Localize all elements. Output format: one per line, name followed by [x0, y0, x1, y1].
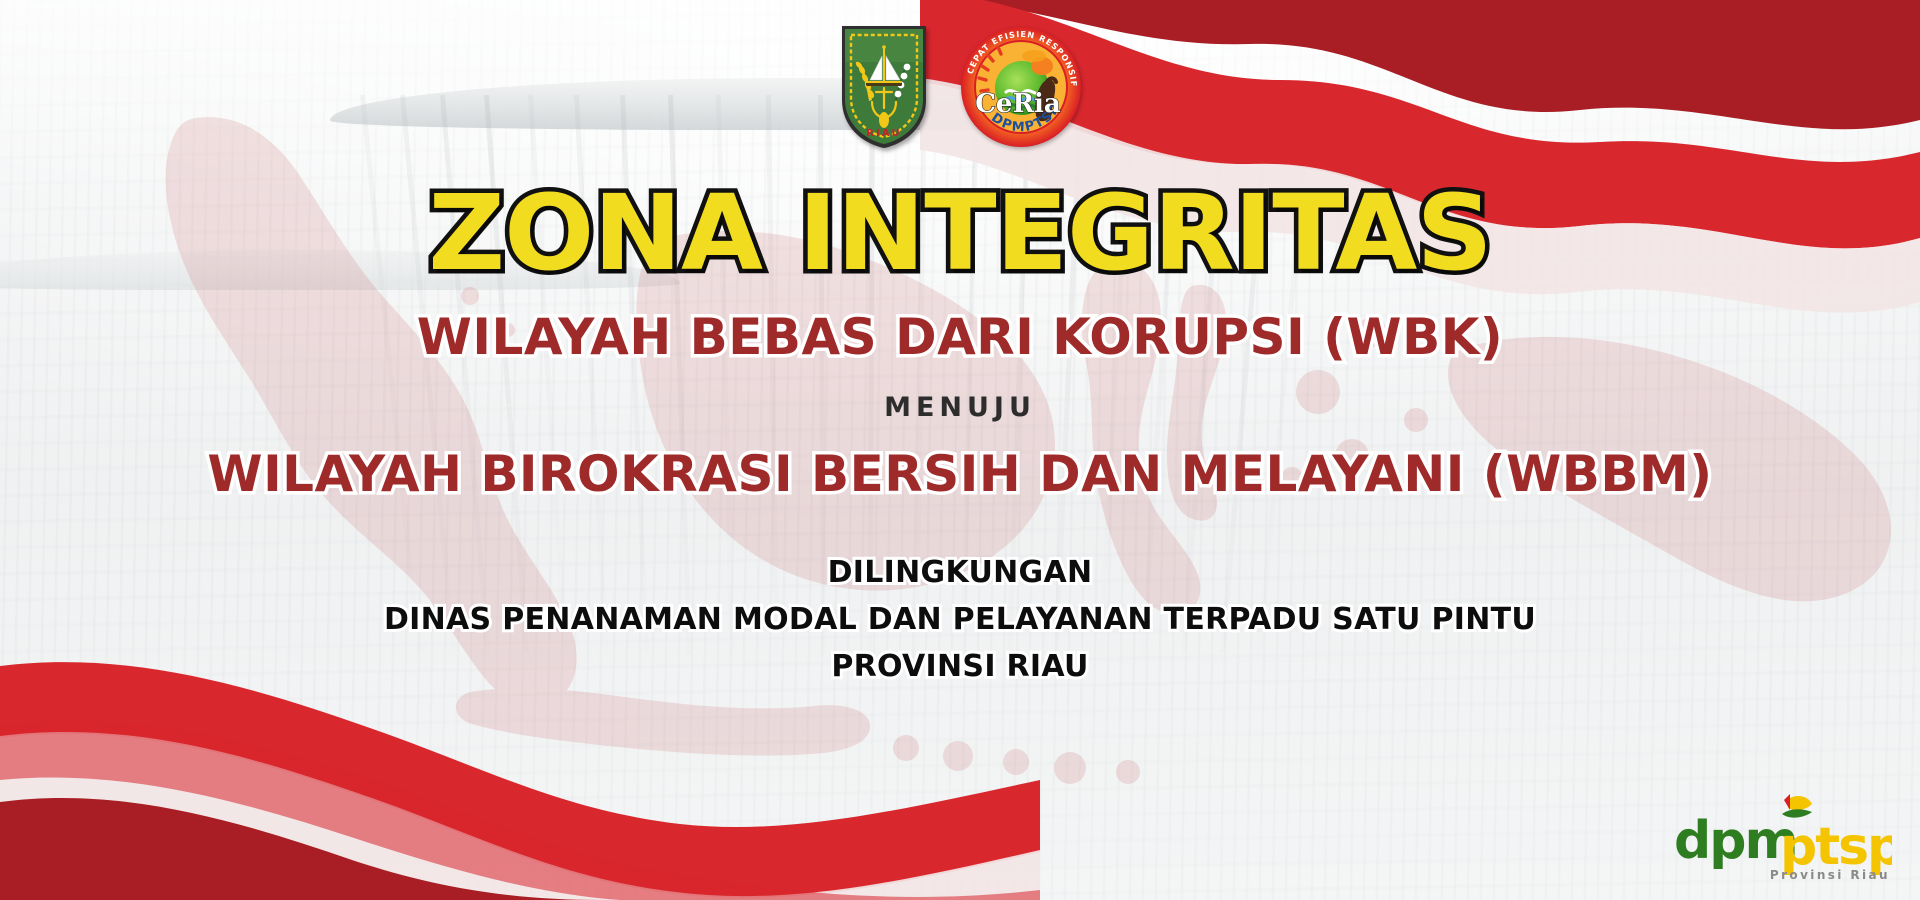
logo-row: RIAU	[0, 22, 1920, 152]
riau-crest-icon: RIAU	[838, 22, 930, 152]
dpmptsp-wordmark-logo: dpm ptsp Provinsi Riau	[1662, 784, 1892, 884]
page-title: ZONA INTEGRITAS	[0, 180, 1920, 286]
svg-text:RIAU: RIAU	[866, 128, 902, 139]
zona-integritas-banner: RIAU	[0, 0, 1920, 900]
menuju-label: MENUJU	[0, 392, 1920, 423]
dpm-text: dpm	[1674, 811, 1797, 871]
wbk-subtitle: WILAYAH BEBAS DARI KORUPSI (WBK)	[0, 308, 1920, 366]
scope-line-1: DILINGKUNGAN	[0, 555, 1920, 590]
banner-text-content: ZONA INTEGRITAS WILAYAH BEBAS DARI KORUP…	[0, 180, 1920, 684]
scope-line-3: PROVINSI RIAU	[0, 649, 1920, 684]
ceria-center-text: CeRia	[975, 89, 1061, 119]
ceria-logo-icon: CEPAT EFISIEN RESPONSIF INTEGRITAS AKUNT…	[960, 26, 1082, 148]
scope-line-2: DINAS PENANAMAN MODAL DAN PELAYANAN TERP…	[0, 602, 1920, 637]
dpm-tagline: Provinsi Riau	[1770, 868, 1890, 882]
scope-block: DILINGKUNGAN DINAS PENANAMAN MODAL DAN P…	[0, 555, 1920, 684]
wbbm-subtitle: WILAYAH BIROKRASI BERSIH DAN MELAYANI (W…	[0, 445, 1920, 503]
